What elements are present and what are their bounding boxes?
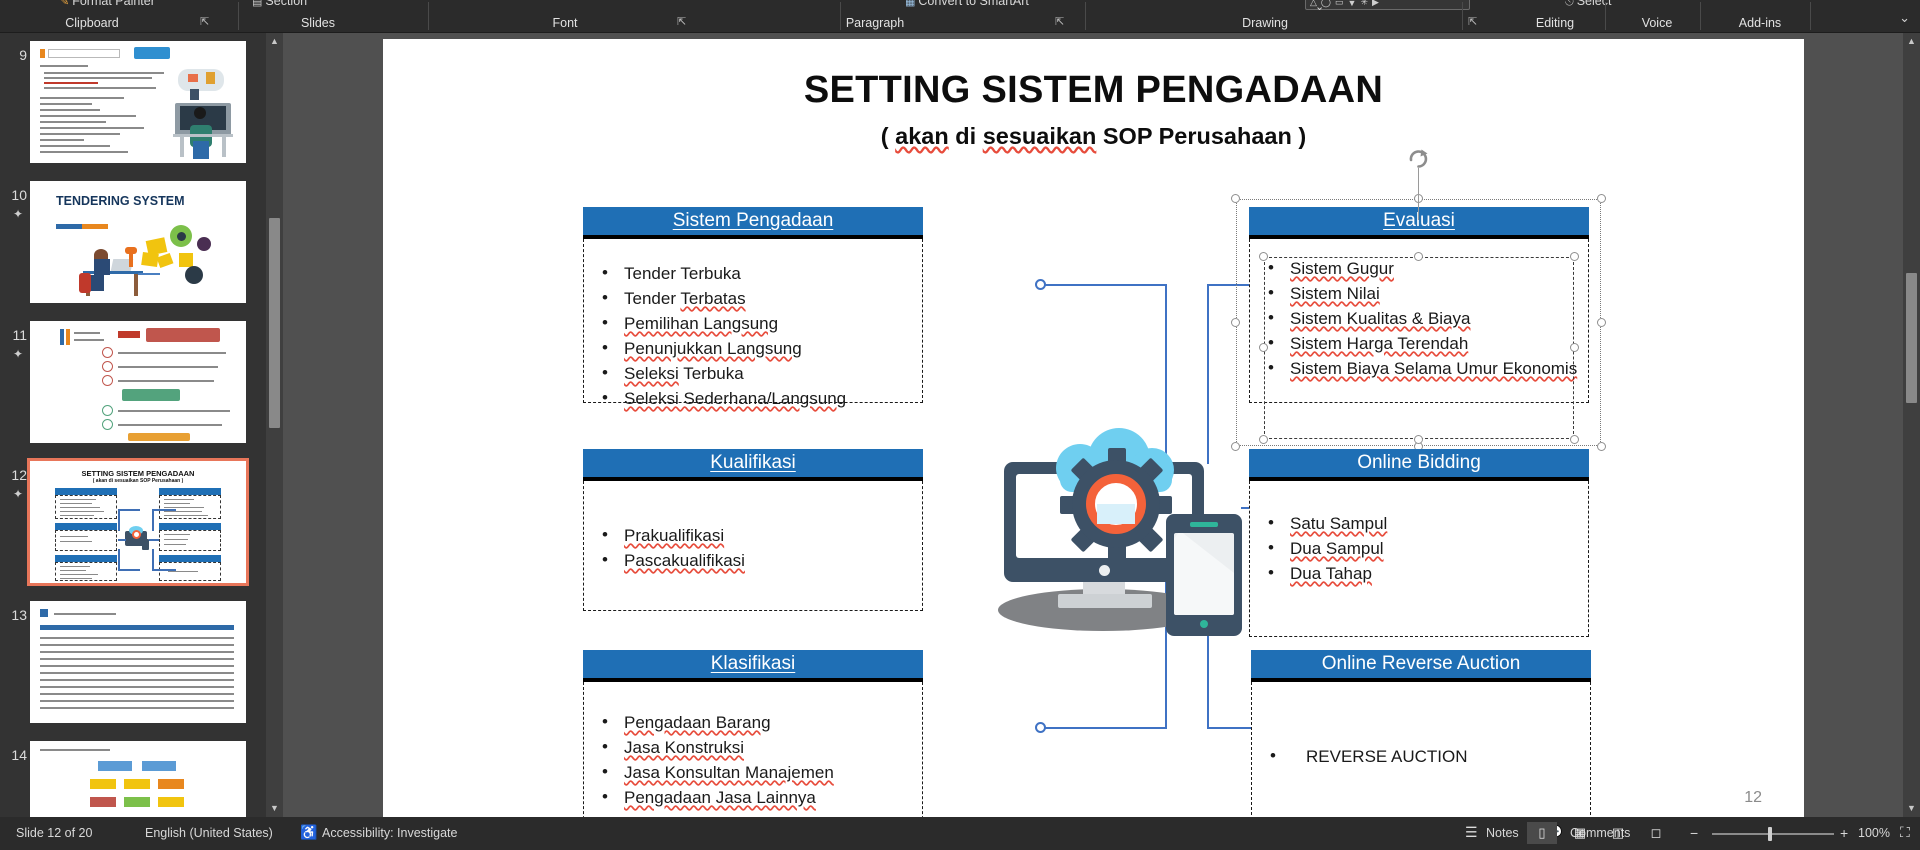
resize-handle-w[interactable]	[1259, 343, 1268, 352]
slide-sorter-icon[interactable]: ▦	[1565, 822, 1595, 844]
ribbon-group-clipboard: Clipboard	[12, 13, 172, 33]
thumbnail-number: 10	[3, 187, 27, 203]
box-item-list: Pengadaan Barang Jasa Konstruksi Jasa Ko…	[584, 710, 922, 810]
phone-speaker	[1190, 522, 1218, 527]
box-item-list: Prakualifikasi Pascakualifikasi	[584, 523, 922, 573]
notes-button[interactable]: Notes	[1486, 826, 1519, 840]
thumbnail-number: 14	[3, 747, 27, 763]
rotate-handle[interactable]	[1407, 147, 1429, 169]
monitor-power-dot	[1099, 565, 1110, 576]
reading-view-icon[interactable]: ◫	[1603, 822, 1633, 844]
shape-styles-gallery[interactable]: △ ◯ ▭ ▼ ✳ ▶	[1305, 0, 1470, 10]
ribbon-group-drawing: Drawing	[1145, 13, 1385, 33]
box-heading: Online Bidding	[1249, 449, 1589, 481]
list-item: Jasa Konstruksi	[584, 735, 922, 760]
status-bar: Slide 12 of 20 English (United States) ♿…	[0, 817, 1920, 850]
box-online-reverse-auction[interactable]: Online Reverse Auction REVERSE AUCTION	[1251, 650, 1591, 830]
slide-indicator[interactable]: Slide 12 of 20	[16, 826, 92, 840]
language-indicator[interactable]: English (United States)	[145, 826, 273, 840]
gear-hole-fill	[1097, 504, 1135, 524]
zoom-slider-knob[interactable]	[1768, 827, 1772, 841]
caret-up-icon[interactable]: ▲	[266, 33, 283, 50]
font-dialog-launcher[interactable]: ⇱	[677, 15, 686, 28]
fit-slide-icon[interactable]: ⛶	[1900, 824, 1910, 841]
list-item: Pascakualifikasi	[584, 548, 922, 573]
paragraph-dialog-launcher[interactable]: ⇱	[1055, 15, 1064, 28]
ribbon-group-paragraph: Paragraph	[755, 13, 995, 33]
box-heading: Klasifikasi	[583, 650, 923, 682]
gear-icon	[1064, 452, 1168, 556]
selection-frame-inner[interactable]	[1264, 257, 1574, 439]
resize-handle-e[interactable]	[1597, 318, 1606, 327]
resize-handle-n[interactable]	[1414, 252, 1423, 261]
resize-handle-ne[interactable]	[1597, 194, 1606, 203]
list-item: Seleksi Sederhana/Langsung	[584, 386, 922, 411]
animation-star-icon: ✦	[8, 207, 28, 221]
shape-style-swatch: ▶	[1372, 0, 1379, 8]
slide-page-number: 12	[1744, 789, 1762, 807]
resize-handle-sw[interactable]	[1231, 442, 1240, 451]
select-icon: ⎋	[1565, 0, 1574, 8]
normal-view-icon[interactable]: ▯	[1527, 822, 1557, 844]
resize-handle-s[interactable]	[1414, 435, 1423, 444]
connector-endpoint-top-left[interactable]	[1035, 279, 1046, 290]
connector-bottom-left-horizontal	[1043, 727, 1167, 729]
thumbnail-number: 13	[3, 607, 27, 623]
zoom-out-button[interactable]: −	[1690, 825, 1698, 841]
list-item: Dua Tahap	[1250, 561, 1588, 586]
resize-handle-se[interactable]	[1570, 435, 1579, 444]
ribbon-group-addins: Add-ins	[1705, 13, 1815, 33]
paint-format-icon: ✎	[60, 0, 69, 8]
shape-style-swatch: ▼	[1348, 0, 1357, 8]
monitor-base	[1058, 594, 1152, 608]
caret-down-icon[interactable]: ▼	[1903, 800, 1920, 817]
zoom-level[interactable]: 100%	[1858, 826, 1890, 840]
resize-handle-e[interactable]	[1570, 343, 1579, 352]
box-heading: Sistem Pengadaan	[583, 207, 923, 239]
thumbnail-scroll-viewport: 9	[0, 33, 266, 817]
drawing-dialog-launcher[interactable]: ⇱	[1468, 15, 1477, 28]
list-item: Pemilihan Langsung	[584, 311, 922, 336]
list-item: Dua Sampul	[1250, 536, 1588, 561]
thumbnail-slide-9[interactable]	[30, 41, 246, 163]
clipboard-dialog-launcher[interactable]: ⇱	[200, 15, 209, 28]
list-item: Penunjukkan Langsung	[584, 336, 922, 361]
list-item: Seleksi Terbuka	[584, 361, 922, 386]
thumbnail-title: TENDERING SYSTEM	[56, 195, 185, 208]
slide-subtitle: ( akan di sesuaikan SOP Perusahaan )	[383, 123, 1804, 150]
section-label: Section	[265, 0, 307, 8]
slide-thumbnail-pane: 9	[0, 33, 283, 817]
shape-style-swatch: ▭	[1335, 0, 1344, 8]
box-item-list: REVERSE AUCTION	[1252, 744, 1590, 769]
resize-handle-w[interactable]	[1231, 318, 1240, 327]
convert-to-smartart-button[interactable]: ▦Convert to SmartArt	[905, 0, 1029, 8]
zoom-in-button[interactable]: +	[1840, 825, 1848, 841]
list-item: Jasa Konsultan Manajemen	[584, 760, 922, 785]
ribbon-group-editing: Editing	[1495, 13, 1615, 33]
subtitle-word-di: di	[949, 123, 983, 149]
ribbon-group-slides: Slides	[248, 13, 388, 33]
list-item: Tender Terbatas	[584, 286, 922, 311]
select-label: Select	[1577, 0, 1612, 8]
resize-handle-sw[interactable]	[1259, 435, 1268, 444]
thumbnail-number: 9	[3, 47, 27, 63]
thumbnail-slide-10[interactable]: TENDERING SYSTEM	[30, 181, 246, 303]
list-item: Prakualifikasi	[584, 523, 922, 548]
box-kualifikasi[interactable]: Kualifikasi Prakualifikasi Pascakualifik…	[583, 449, 923, 611]
slide-surface[interactable]: SETTING SISTEM PENGADAAN ( akan di sesua…	[383, 39, 1804, 835]
accessibility-icon[interactable]: ♿	[300, 824, 317, 841]
subtitle-word-akan: akan	[895, 123, 949, 149]
box-item-list: Tender Terbuka Tender Terbatas Pemilihan…	[584, 261, 922, 411]
subtitle-word-sesuaikan: sesuaikan	[983, 123, 1097, 149]
smartart-icon: ▦	[905, 0, 915, 8]
box-heading: Kualifikasi	[583, 449, 923, 481]
phone-home-button	[1200, 620, 1208, 628]
list-item: REVERSE AUCTION	[1252, 744, 1590, 769]
box-sistem-pengadaan[interactable]: Sistem Pengadaan Tender Terbuka Tender T…	[583, 207, 923, 403]
resize-handle-se[interactable]	[1597, 442, 1606, 451]
page-title: SETTING SISTEM PENGADAAN	[383, 69, 1804, 112]
slideshow-icon[interactable]: ◻	[1641, 822, 1671, 844]
box-heading: Online Reverse Auction	[1251, 650, 1591, 682]
thumbnail-scrollbar-thumb[interactable]	[269, 218, 280, 428]
animation-star-icon: ✦	[8, 487, 28, 501]
slide-canvas-area[interactable]: SETTING SISTEM PENGADAAN ( akan di sesua…	[283, 33, 1903, 817]
resize-handle-ne[interactable]	[1570, 252, 1579, 261]
section-icon: ▤	[252, 0, 262, 8]
ribbon-group-font: Font	[440, 13, 690, 33]
section-button[interactable]: ▤Section	[252, 0, 307, 8]
connector-top-left-horizontal	[1043, 284, 1167, 286]
thumbnail-slide-14[interactable]	[30, 741, 246, 817]
canvas-scrollbar[interactable]: ▲ ▼	[1903, 33, 1920, 817]
thumbnail-slide-13[interactable]	[30, 601, 246, 723]
phone-screen	[1174, 533, 1234, 615]
list-item: Tender Terbuka	[584, 261, 922, 286]
ribbon: ✎Format Painter ▤Section ▦Convert to Sma…	[0, 0, 1920, 33]
thumbnail-title: SETTING SISTEM PENGADAAN	[30, 469, 246, 478]
list-item: Satu Sampul	[1250, 511, 1588, 536]
format-painter-label: Format Painter	[72, 0, 155, 8]
zoom-slider[interactable]	[1712, 833, 1834, 835]
notes-icon[interactable]: ☰	[1465, 824, 1478, 841]
list-item: Pengadaan Barang	[584, 710, 922, 735]
subtitle-tail: SOP Perusahaan )	[1096, 123, 1306, 149]
box-klasifikasi[interactable]: Klasifikasi Pengadaan Barang Jasa Konstr…	[583, 650, 923, 834]
list-item: Pengadaan Jasa Lainnya	[584, 785, 922, 810]
chevron-down-icon[interactable]: ⌄	[1899, 10, 1910, 26]
convert-to-smartart-label: Convert to SmartArt	[918, 0, 1028, 8]
ribbon-command-row: ✎Format Painter ▤Section ▦Convert to Sma…	[0, 0, 1920, 13]
thumbnail-scrollbar[interactable]: ▲ ▼	[266, 33, 283, 817]
animation-star-icon: ✦	[8, 347, 28, 361]
caret-up-icon[interactable]: ▲	[1903, 33, 1920, 50]
shape-style-swatch: ✳	[1360, 0, 1368, 8]
resize-handle-nw[interactable]	[1231, 194, 1240, 203]
thumbnail-slide-11[interactable]	[30, 321, 246, 443]
shape-gallery-more-arrow[interactable]: ⌄	[1315, 0, 1324, 13]
thumbnail-number: 11	[3, 327, 27, 343]
caret-down-icon[interactable]: ▼	[266, 800, 283, 817]
subtitle-open-paren: (	[881, 123, 895, 149]
box-online-bidding[interactable]: Online Bidding Satu Sampul Dua Sampul Du…	[1249, 449, 1589, 637]
accessibility-status[interactable]: Accessibility: Investigate	[322, 826, 457, 840]
thumbnail-slide-12[interactable]: SETTING SISTEM PENGADAAN ( akan di sesua…	[30, 461, 246, 583]
resize-handle-nw[interactable]	[1259, 252, 1268, 261]
canvas-scrollbar-thumb[interactable]	[1906, 273, 1917, 403]
connector-endpoint-bottom-left[interactable]	[1035, 722, 1046, 733]
thumbnail-number: 12	[3, 467, 27, 483]
format-painter-button[interactable]: ✎Format Painter	[60, 0, 155, 8]
box-item-list: Satu Sampul Dua Sampul Dua Tahap	[1250, 511, 1588, 586]
ribbon-group-voice: Voice	[1612, 13, 1702, 33]
